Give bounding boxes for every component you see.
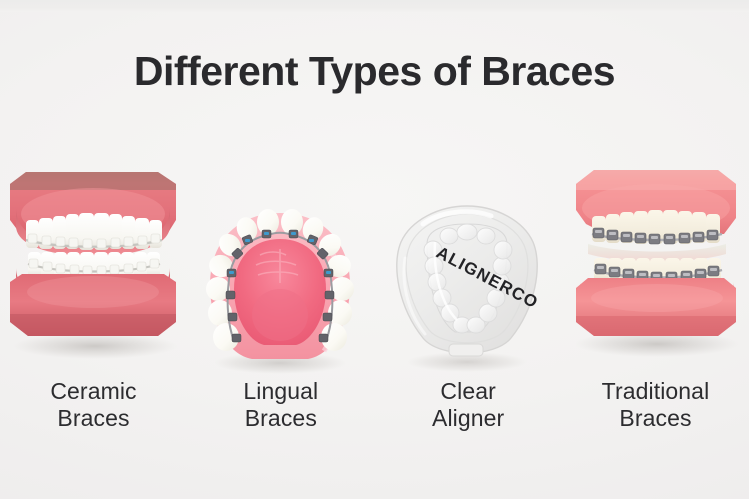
caption-lingual: Lingual Braces	[187, 378, 374, 432]
braces-infographic: Different Types of Braces	[0, 0, 749, 499]
ceramic-lower-jaw	[10, 268, 176, 336]
ceramic-shadow	[13, 333, 177, 359]
page-title: Different Types of Braces	[0, 47, 749, 95]
caption-lingual-line2: Braces	[187, 405, 374, 432]
traditional-braces-figure	[562, 160, 749, 360]
caption-ceramic-line1: Ceramic	[50, 378, 136, 404]
caption-aligner-line2: Aligner	[375, 405, 562, 432]
braces-item-clear-aligner: ALIGNERCO Clear Aligner	[375, 160, 562, 450]
ceramic-braces-illustration	[0, 164, 187, 360]
caption-traditional-line2: Braces	[562, 405, 749, 432]
caption-ceramic: Ceramic Braces	[0, 378, 187, 432]
top-band	[0, 0, 749, 12]
aligner-case-latch	[449, 344, 483, 356]
traditional-lower-jaw	[576, 278, 736, 336]
caption-traditional: Traditional Braces	[562, 378, 749, 432]
clear-aligner-figure: ALIGNERCO	[375, 186, 562, 386]
braces-item-ceramic: Ceramic Braces	[0, 160, 187, 450]
traditional-braces-illustration	[562, 162, 749, 358]
caption-lingual-line1: Lingual	[243, 378, 318, 404]
caption-ceramic-line2: Braces	[0, 405, 187, 432]
caption-aligner-line1: Clear	[440, 378, 495, 404]
lingual-braces-illustration	[196, 205, 366, 375]
ceramic-braces-figure	[0, 162, 187, 362]
braces-types-row: Ceramic Braces	[0, 160, 749, 450]
braces-item-traditional: Traditional Braces	[562, 160, 749, 450]
lingual-braces-figure	[187, 190, 374, 390]
clear-aligner-illustration: ALIGNERCO	[383, 198, 553, 374]
caption-traditional-line1: Traditional	[602, 378, 710, 404]
caption-clear-aligner: Clear Aligner	[375, 378, 562, 432]
braces-item-lingual: Lingual Braces	[187, 160, 374, 450]
